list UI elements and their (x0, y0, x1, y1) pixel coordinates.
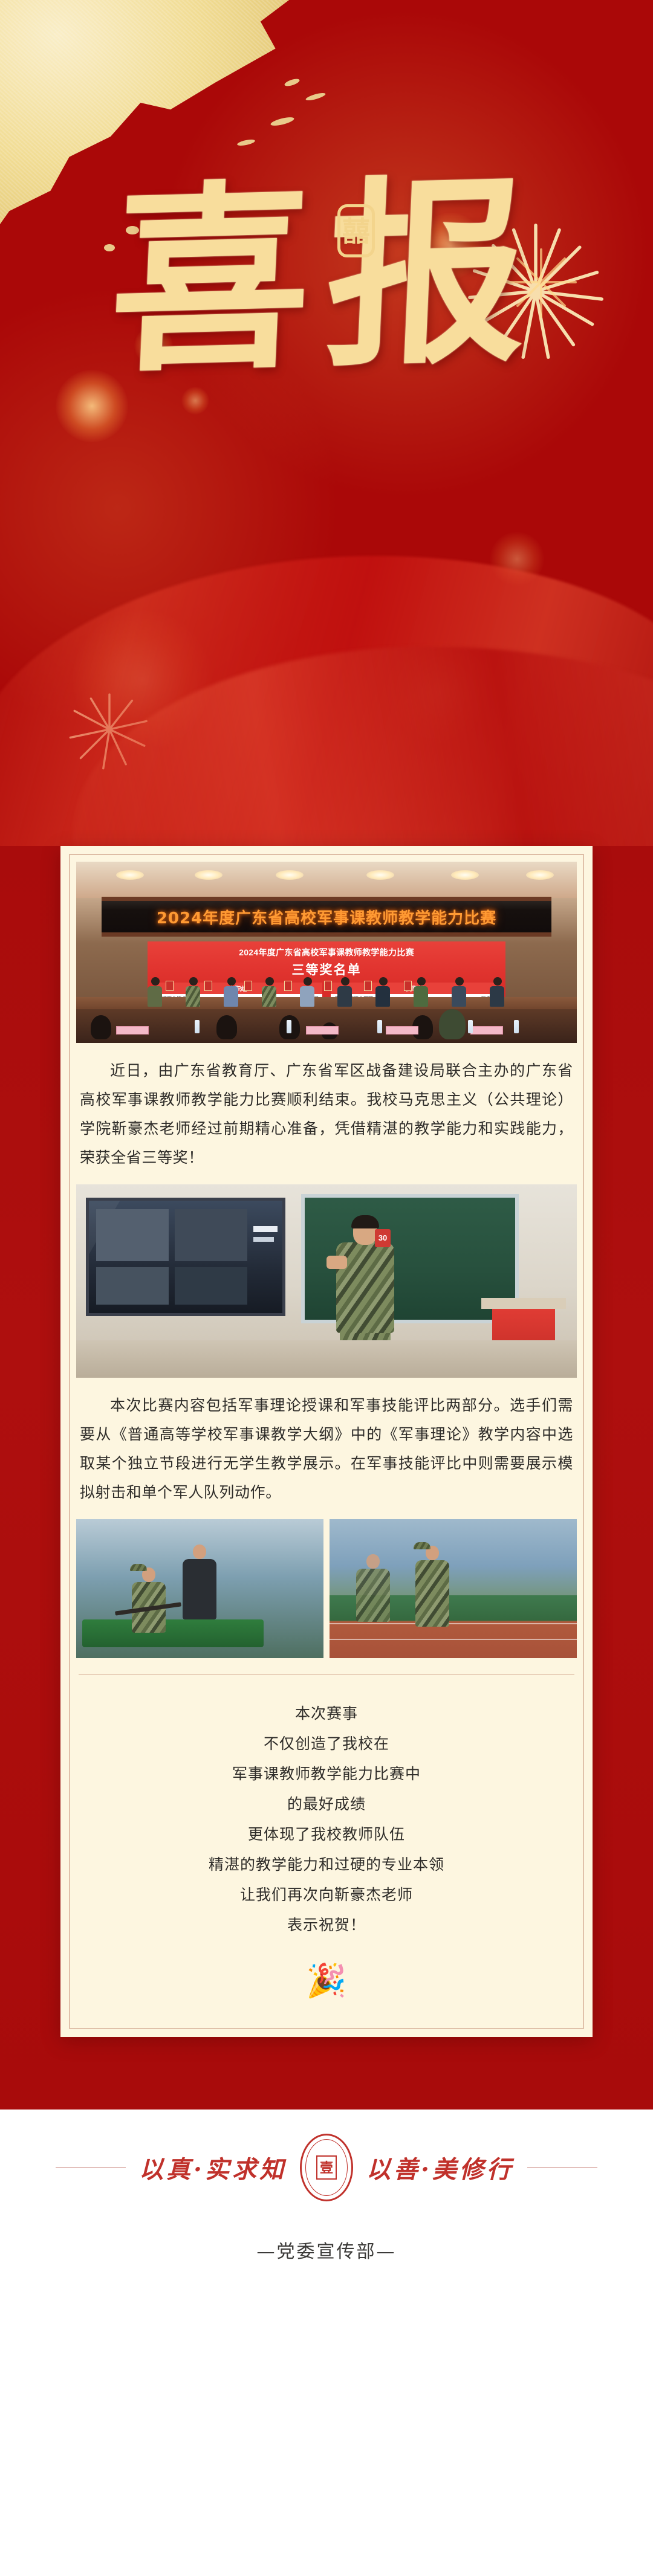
slide-thumbnail (96, 1267, 169, 1305)
photo-drill-formation (330, 1519, 577, 1658)
photo-pair-row (76, 1519, 577, 1658)
classroom-floor (76, 1340, 577, 1378)
soldier-head (426, 1546, 439, 1560)
water-bottle (377, 1020, 382, 1033)
motto-right: 以善·美修行 (366, 2150, 514, 2185)
content-zone: 2024年度广东省高校军事课教师教学能力比赛 2024年度广东省高校军事课教师教… (0, 846, 653, 2110)
certificate (284, 981, 292, 991)
water-bottle (468, 1020, 473, 1033)
paragraph-one: 近日，由广东省教育厅、广东省军区战备建设局联合主办的广东省高校军事课教师教学能力… (76, 1047, 577, 1184)
person (186, 977, 201, 1007)
person (452, 977, 467, 1007)
motto-rule-left (56, 2168, 126, 2168)
soldier-cap-icon (130, 1564, 147, 1571)
photo-simulated-shooting (76, 1519, 323, 1658)
motto-row: 以真·实求知 壹 以善·美修行 (0, 2134, 653, 2201)
soldier-head (366, 1554, 380, 1569)
ceiling-light (526, 870, 554, 880)
page-title: 喜报 (107, 176, 547, 378)
soldier-marching (356, 1554, 390, 1622)
page-footer: 以真·实求知 壹 以善·美修行 —党委宣传部— (0, 2110, 653, 2279)
closing-line: 更体现了我校教师队伍 (76, 1819, 577, 1850)
closing-verse: 本次赛事 不仅创造了我校在 军事课教师教学能力比赛中 的最好成绩 更体现了我校教… (76, 1680, 577, 1951)
teacher-head (353, 1218, 377, 1245)
projection-screen (86, 1198, 285, 1316)
gold-fleck (284, 77, 301, 88)
audience-head (216, 1015, 237, 1039)
audience-head (439, 1009, 466, 1039)
soldier-uniform (356, 1569, 390, 1622)
nameplate (116, 1026, 149, 1035)
soldier-observer (183, 1545, 216, 1619)
party-popper-icon: 🎉 (76, 1951, 577, 2001)
teacher-hand (326, 1256, 347, 1269)
soldier-prone (132, 1567, 166, 1633)
ceiling-light (451, 870, 479, 880)
soldier-head (193, 1545, 206, 1559)
person (262, 977, 278, 1007)
closing-line: 精湛的教学能力和过硬的专业本领 (76, 1850, 577, 1880)
gold-fleck (236, 138, 255, 147)
school-seal-icon: 壹 (300, 2134, 353, 2201)
ceiling (76, 862, 577, 898)
closing-line: 让我们再次向靳豪杰老师 (76, 1880, 577, 1910)
nameplate (386, 1026, 418, 1035)
slide-thumbnail (96, 1209, 169, 1261)
water-bottle (514, 1020, 519, 1033)
photo-classroom-lecture: 30 (76, 1184, 577, 1378)
led-banner-text: 2024年度广东省高校军事课教师教学能力比赛 (157, 906, 496, 928)
person (148, 977, 163, 1007)
person (490, 977, 505, 1007)
track-lane-line (330, 1623, 577, 1624)
closing-line: 军事课教师教学能力比赛中 (76, 1759, 577, 1789)
hero-title-block: 喜报 囍 (0, 181, 653, 373)
paragraph-two: 本次比赛内容包括军事理论授课和军事技能评比两部分。选手们需要从《普通高等学校军事… (76, 1381, 577, 1519)
double-happiness-seal-icon: 囍 (337, 204, 375, 257)
certificate (166, 981, 174, 991)
audience-head (91, 1015, 111, 1039)
water-bottle (287, 1020, 291, 1033)
photo-award-ceremony: 2024年度广东省高校军事课教师教学能力比赛 2024年度广东省高校军事课教师教… (76, 862, 577, 1043)
contestant-number-badge: 30 (375, 1229, 391, 1247)
nameplate (470, 1026, 503, 1035)
gold-fleck (305, 91, 326, 102)
hero-banner: 喜报 囍 (0, 0, 653, 846)
celebration-poster: 喜报 囍 2024年度广东省高校军事课教师教学能力比赛 2024年度广东省高校军 (0, 0, 653, 2279)
certificate (404, 981, 412, 991)
slide-text-block (253, 1226, 278, 1232)
section-divider (79, 1674, 574, 1674)
person (224, 977, 239, 1007)
soldier-uniform (415, 1560, 449, 1627)
slide-thumbnail (175, 1267, 247, 1305)
ceiling-light (195, 870, 223, 880)
slide-text-block (253, 1237, 274, 1242)
closing-line: 表示祝贺！ (76, 1910, 577, 1940)
content-card: 2024年度广东省高校军事课教师教学能力比赛 2024年度广东省高校军事课教师教… (60, 846, 593, 2037)
closing-line: 本次赛事 (76, 1699, 577, 1729)
soldier-marching (415, 1546, 449, 1627)
track-lane-line (330, 1639, 577, 1640)
led-banner: 2024年度广东省高校军事课教师教学能力比赛 (102, 897, 551, 937)
slide-thumbnail (175, 1209, 247, 1261)
seal-core-glyph: 壹 (316, 2155, 337, 2180)
motto-rule-right (527, 2168, 597, 2168)
water-bottle (195, 1020, 200, 1033)
ceiling-light (366, 870, 394, 880)
certificate (204, 981, 212, 991)
motto-left: 以真·实求知 (139, 2150, 287, 2185)
closing-line: 不仅创造了我校在 (76, 1729, 577, 1759)
person (337, 977, 353, 1007)
ceiling-light (116, 870, 144, 880)
person (300, 977, 316, 1007)
ceiling-light (276, 870, 304, 880)
certificate (324, 981, 332, 991)
person (414, 977, 429, 1007)
screen-title: 2024年度广东省高校军事课教师教学能力比赛 (154, 946, 499, 958)
shooting-mat (82, 1619, 264, 1647)
person (375, 977, 391, 1007)
certificate (364, 981, 372, 991)
nameplate (306, 1026, 339, 1035)
gold-fleck (270, 115, 294, 127)
soldier-head (142, 1567, 155, 1582)
soldier-uniform (183, 1559, 216, 1619)
certificate (244, 981, 252, 991)
closing-line: 的最好成绩 (76, 1789, 577, 1819)
teacher-hair (351, 1215, 379, 1228)
side-desk (481, 1298, 566, 1309)
soldier-cap-icon (414, 1542, 430, 1549)
publisher-department: —党委宣传部— (0, 2236, 653, 2263)
